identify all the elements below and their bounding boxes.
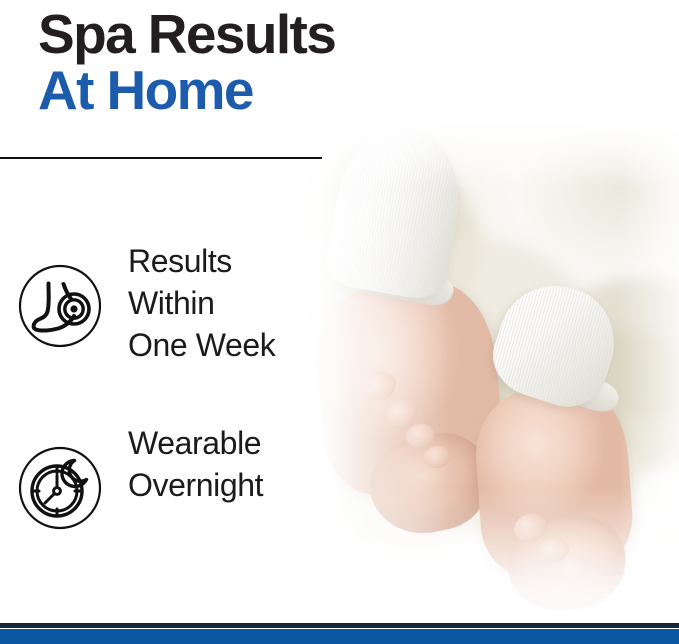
footer-rule [0,623,679,628]
feature-text: Wearable Overnight [128,422,263,506]
clock-moon-icon [18,446,102,530]
feature-text-line: Wearable [128,422,263,464]
headline-line-2: At Home [38,62,335,118]
footer-brand-bar [0,629,679,644]
foot-reflexology-icon [18,264,102,348]
feature-item-wearable-overnight: Wearable Overnight [0,422,360,530]
feature-text: Results Within One Week [128,240,275,366]
infographic-canvas: Spa Results At Home Results [0,0,679,644]
headline: Spa Results At Home [38,6,335,118]
feature-item-results-within-one-week: Results Within One Week [0,240,360,366]
feature-text-line: One Week [128,324,275,366]
headline-line-1: Spa Results [38,6,335,62]
feature-text-line: Results [128,240,275,282]
feature-text-line: Overnight [128,464,263,506]
feature-text-line: Within [128,282,275,324]
divider-rule [0,157,322,159]
feature-list: Results Within One Week [0,240,360,530]
